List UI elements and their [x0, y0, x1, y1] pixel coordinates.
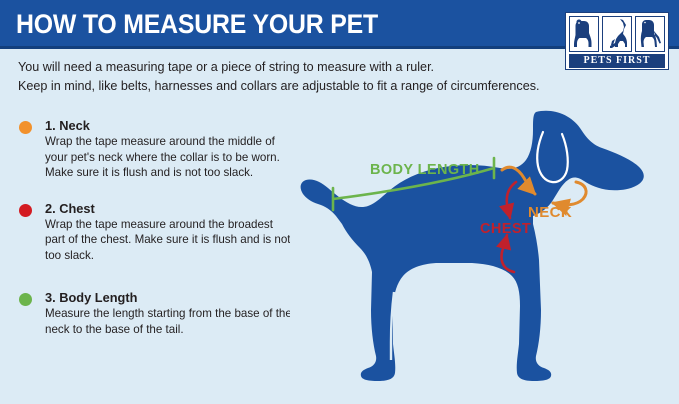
label-chest: CHEST: [480, 221, 531, 237]
label-neck: NECK: [528, 204, 572, 221]
step-title-body-length: 3. Body Length: [45, 290, 293, 305]
step-title-chest: 2. Chest: [45, 201, 293, 216]
dog-standing-icon: [635, 16, 665, 52]
page-title: HOW TO MEASURE YOUR PET: [16, 9, 378, 40]
step-item-body-length: 3. Body Length Measure the length starti…: [18, 290, 293, 337]
how-to-measure-your-pet-infographic: HOW TO MEASURE YOUR PET: [0, 0, 679, 404]
dog-howling-icon: [602, 16, 632, 52]
label-body-length: BODY LENGTH: [370, 162, 480, 178]
dog-sitting-icon: [569, 16, 599, 52]
step-item-neck: 1. Neck Wrap the tape measure around the…: [18, 118, 293, 181]
step-body-neck: Wrap the tape measure around the middle …: [45, 134, 293, 181]
steps-list: 1. Neck Wrap the tape measure around the…: [18, 118, 293, 352]
intro-line-1: You will need a measuring tape or a piec…: [18, 58, 608, 77]
step-body-body-length: Measure the length starting from the bas…: [45, 306, 293, 337]
step-title-neck: 1. Neck: [45, 118, 293, 133]
bullet-neck-icon: [19, 121, 32, 134]
dog-diagram: BODY LENGTH NECK CHEST: [290, 96, 679, 404]
bullet-body-length-icon: [19, 293, 32, 306]
step-body-chest: Wrap the tape measure around the broades…: [45, 217, 293, 264]
intro-line-2: Keep in mind, like belts, harnesses and …: [18, 77, 608, 96]
logo-dog-row: [569, 16, 665, 52]
bullet-chest-icon: [19, 204, 32, 217]
intro-text: You will need a measuring tape or a piec…: [18, 58, 608, 96]
step-item-chest: 2. Chest Wrap the tape measure around th…: [18, 201, 293, 264]
